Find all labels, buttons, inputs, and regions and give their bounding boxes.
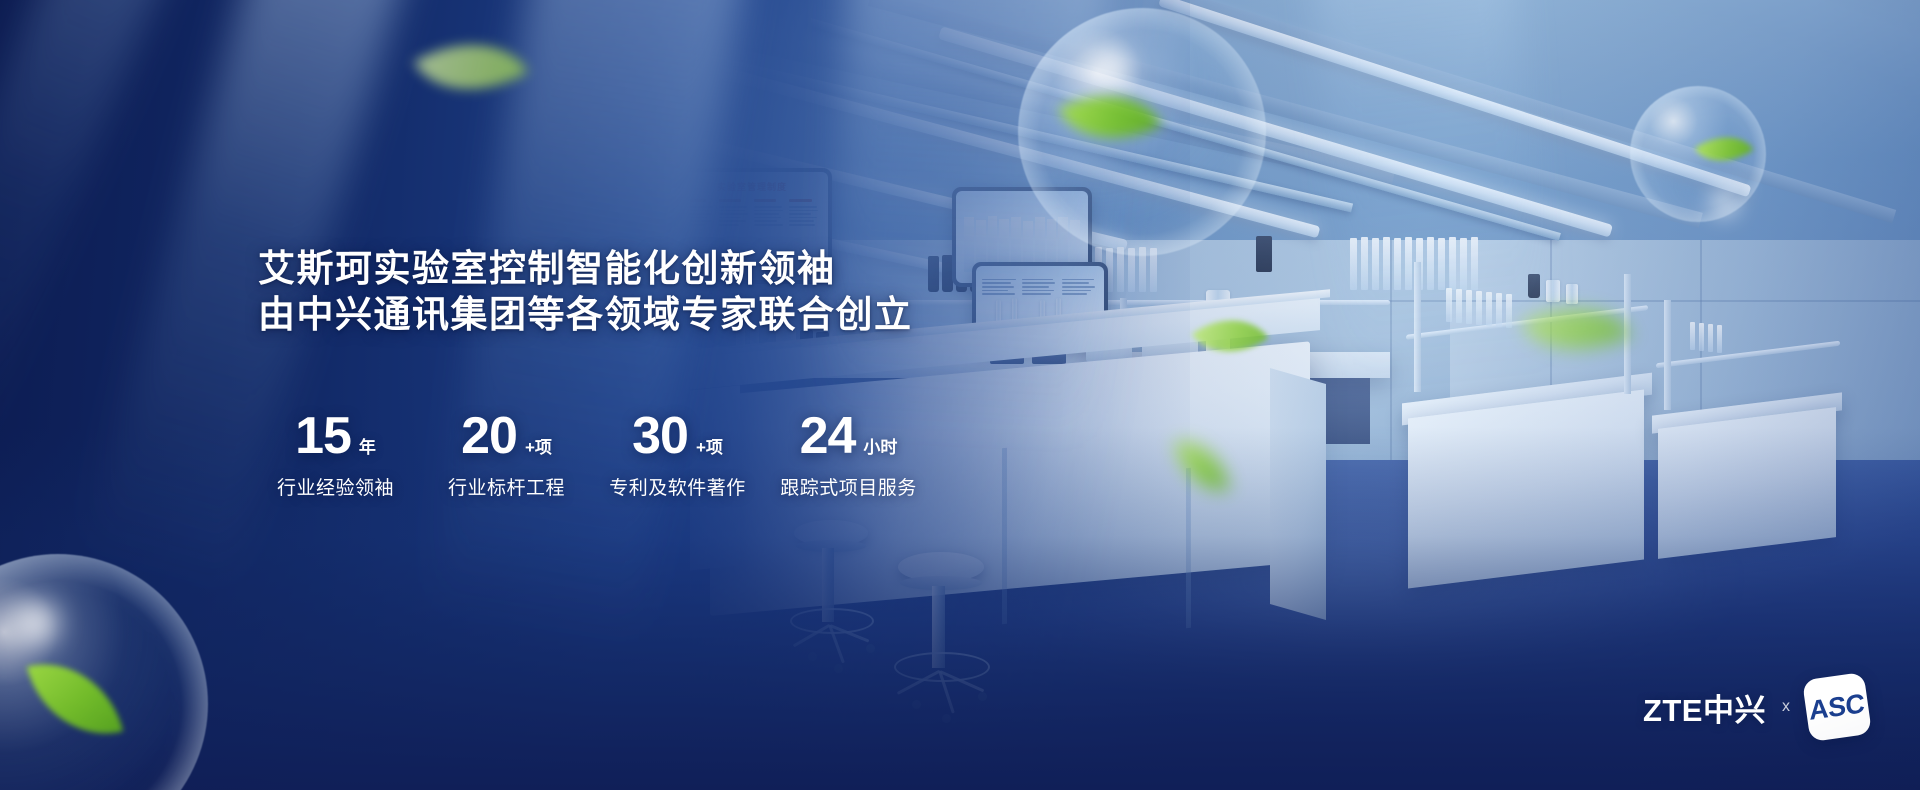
- logo-lockup: ZTE中兴 x ASC: [1643, 676, 1868, 738]
- stat-unit: 年: [359, 433, 376, 458]
- bubble-highlight: [1080, 46, 1144, 90]
- stat-number: 20: [461, 408, 517, 464]
- stat-label: 跟踪式项目服务: [763, 473, 934, 500]
- stat-number: 24: [800, 408, 856, 464]
- stat-item-2: 30 +项 专利及软件著作: [592, 408, 763, 500]
- stats-row: 15 年 行业经验领袖 20 +项 行业标杆工程 30 +项 专利及软件著作 2…: [250, 408, 934, 500]
- headline-line-2: 由中兴通讯集团等各领域专家联合创立: [258, 292, 913, 338]
- stat-number: 15: [295, 408, 351, 464]
- stat-item-1: 20 +项 行业标杆工程: [421, 408, 592, 500]
- stat-number: 30: [632, 408, 688, 464]
- stat-label: 行业经验领袖: [250, 473, 421, 500]
- headline-block: 艾斯珂实验室控制智能化创新领袖 由中兴通讯集团等各领域专家联合创立: [258, 246, 913, 338]
- stat-item-3: 24 小时 跟踪式项目服务: [763, 408, 934, 500]
- stat-label: 行业标杆工程: [421, 473, 592, 500]
- zte-logo: ZTE中兴: [1643, 685, 1766, 730]
- asc-logo-text: ASC: [1809, 688, 1865, 727]
- headline-line-1: 艾斯珂实验室控制智能化创新领袖: [258, 246, 913, 292]
- stat-item-0: 15 年 行业经验领袖: [250, 408, 421, 500]
- hero-banner: 实验室管理制度: [0, 0, 1920, 790]
- stat-unit: +项: [525, 433, 552, 458]
- logo-separator: x: [1782, 698, 1790, 716]
- asc-logo: ASC: [1802, 672, 1872, 742]
- bubble-highlight: [1700, 186, 1748, 220]
- stat-label: 专利及软件著作: [592, 473, 763, 500]
- stat-unit: +项: [696, 433, 723, 458]
- stat-unit: 小时: [863, 433, 897, 458]
